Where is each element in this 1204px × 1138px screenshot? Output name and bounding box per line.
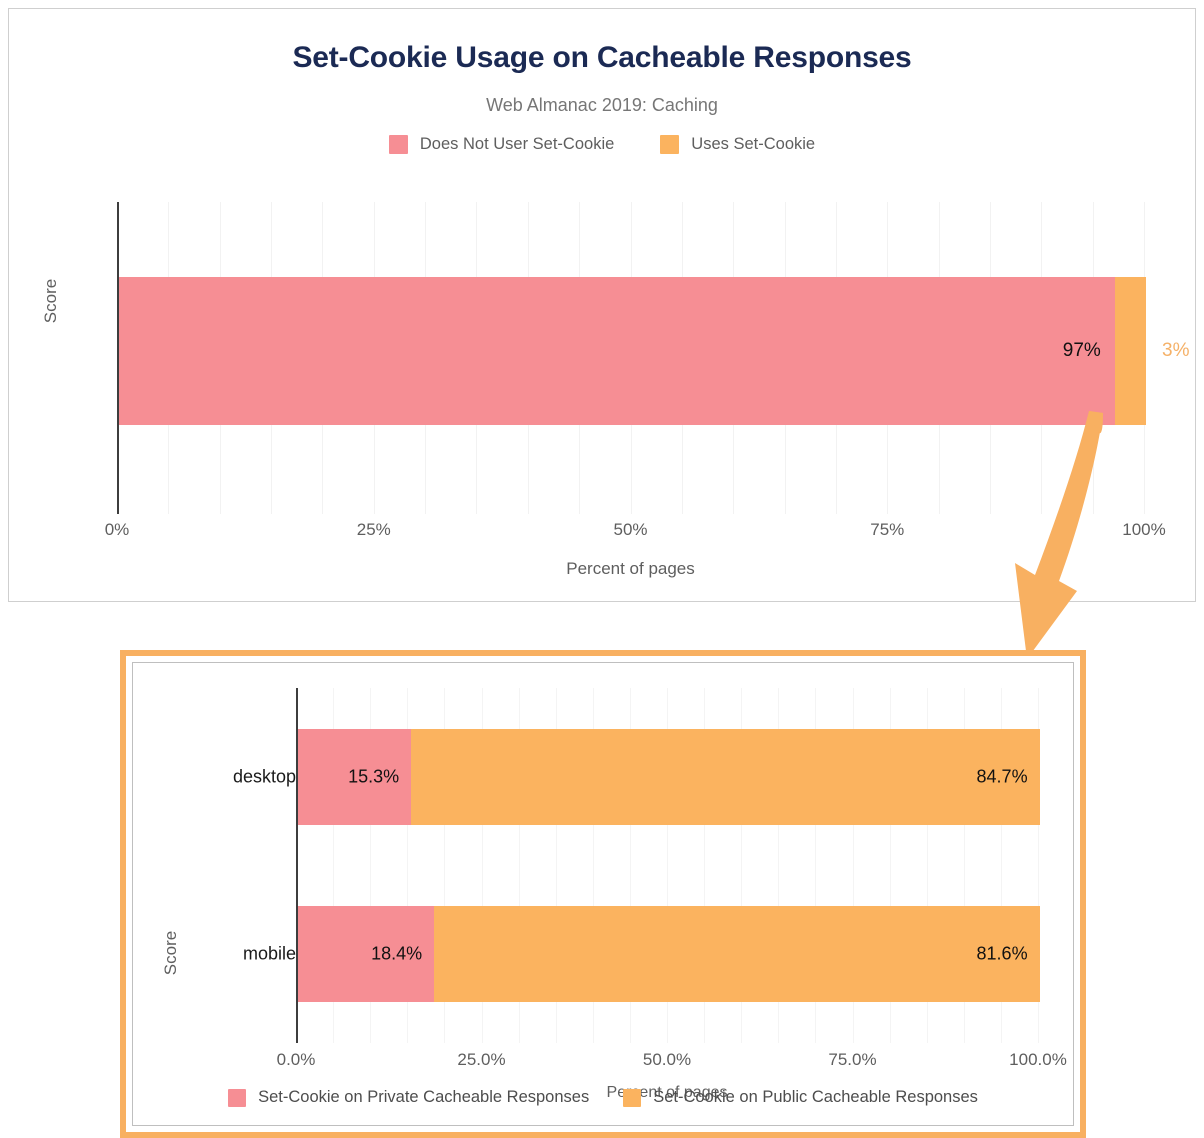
bar-value-private: 15.3% bbox=[348, 766, 399, 787]
legend-swatch-does-not-use bbox=[389, 135, 408, 154]
bottom-chart-card: Score 15.3%84.7%desktop18.4%81.6%mobile … bbox=[132, 662, 1074, 1126]
bar-segment-does-not-use[interactable]: 97% bbox=[119, 277, 1115, 425]
bar-segment-public[interactable]: 84.7% bbox=[411, 729, 1039, 825]
x-tick-label: 75.0% bbox=[828, 1050, 876, 1070]
pointer-arrow-icon bbox=[985, 405, 1185, 667]
x-tick-label: 25% bbox=[357, 520, 391, 540]
bar-value-private: 18.4% bbox=[371, 944, 422, 965]
bar-value-public: 81.6% bbox=[977, 944, 1028, 965]
top-chart-bar[interactable]: 97% bbox=[119, 277, 1146, 425]
bottom-chart-y-axis-label: Score bbox=[161, 931, 181, 975]
bar-segment-uses[interactable] bbox=[1115, 277, 1146, 425]
top-chart-y-axis-label: Score bbox=[41, 279, 61, 323]
x-tick-label: 75% bbox=[870, 520, 904, 540]
bar-value-uses: 3% bbox=[1162, 340, 1189, 362]
bottom-chart-highlight-box: Score 15.3%84.7%desktop18.4%81.6%mobile … bbox=[120, 650, 1086, 1138]
x-tick-label: 100.0% bbox=[1009, 1050, 1067, 1070]
y-tick-label: mobile bbox=[243, 944, 296, 965]
legend-item-public-cacheable[interactable]: Set-Cookie on Public Cacheable Responses bbox=[623, 1088, 978, 1107]
legend-label-private: Set-Cookie on Private Cacheable Response… bbox=[258, 1088, 589, 1107]
bottom-chart-legend: Set-Cookie on Private Cacheable Response… bbox=[133, 1088, 1073, 1107]
page-title: Set-Cookie Usage on Cacheable Responses bbox=[9, 41, 1195, 75]
x-tick-label: 0.0% bbox=[277, 1050, 316, 1070]
table-row[interactable]: 18.4%81.6% bbox=[298, 906, 1040, 1002]
table-row[interactable]: 15.3%84.7% bbox=[298, 729, 1040, 825]
bottom-chart-plot-area: 15.3%84.7%desktop18.4%81.6%mobile 0.0%25… bbox=[296, 688, 1038, 1043]
chart-page: Set-Cookie Usage on Cacheable Responses … bbox=[0, 0, 1204, 1138]
bar-value-does-not-use: 97% bbox=[1063, 340, 1101, 362]
legend-label-public: Set-Cookie on Public Cacheable Responses bbox=[653, 1088, 978, 1107]
x-tick-label: 25.0% bbox=[457, 1050, 505, 1070]
legend-label-does-not-use: Does Not User Set-Cookie bbox=[420, 135, 614, 154]
legend-item-does-not-use-set-cookie[interactable]: Does Not User Set-Cookie bbox=[389, 135, 614, 154]
bar-value-public: 84.7% bbox=[977, 766, 1028, 787]
legend-label-uses: Uses Set-Cookie bbox=[691, 135, 815, 154]
bar-segment-private[interactable]: 18.4% bbox=[298, 906, 435, 1002]
legend-item-private-cacheable[interactable]: Set-Cookie on Private Cacheable Response… bbox=[228, 1088, 589, 1107]
x-tick-label: 50% bbox=[613, 520, 647, 540]
top-chart-legend: Does Not User Set-Cookie Uses Set-Cookie bbox=[9, 135, 1195, 154]
chart-subtitle: Web Almanac 2019: Caching bbox=[9, 95, 1195, 116]
legend-swatch-private bbox=[228, 1089, 246, 1107]
bar-segment-private[interactable]: 15.3% bbox=[298, 729, 412, 825]
bar-segment-public[interactable]: 81.6% bbox=[434, 906, 1039, 1002]
x-tick-label: 50.0% bbox=[643, 1050, 691, 1070]
legend-item-uses-set-cookie[interactable]: Uses Set-Cookie bbox=[660, 135, 815, 154]
legend-swatch-uses bbox=[660, 135, 679, 154]
x-tick-label: 0% bbox=[105, 520, 130, 540]
legend-swatch-public bbox=[623, 1089, 641, 1107]
y-tick-label: desktop bbox=[233, 766, 296, 787]
